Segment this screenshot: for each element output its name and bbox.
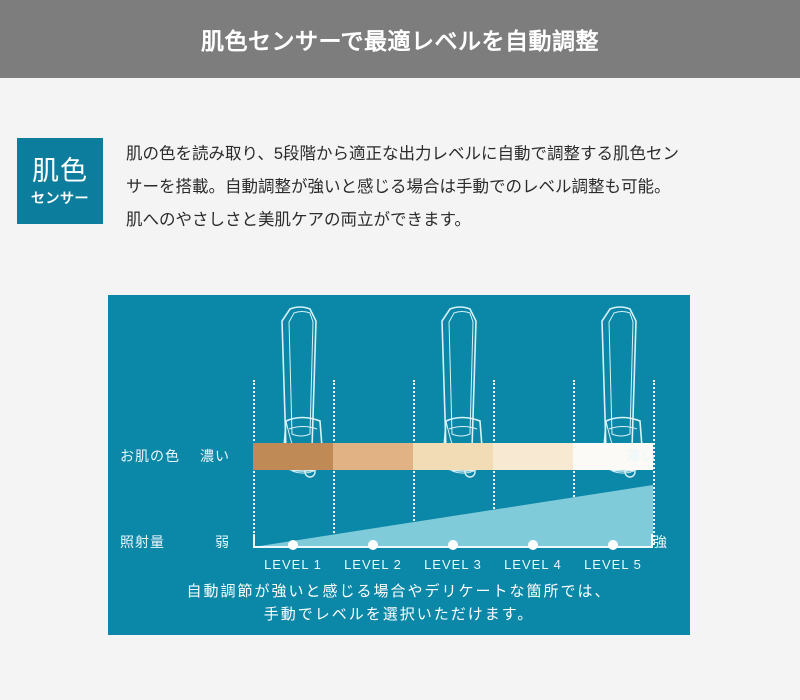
level-dot[interactable] bbox=[528, 540, 538, 550]
level-dot[interactable] bbox=[288, 540, 298, 550]
skin-sensor-badge: 肌色 センサー bbox=[17, 138, 103, 224]
diagram-panel: LEVEL 1 LEVEL 2 LEVEL 3 LEVEL 4 LEVEL 5 … bbox=[108, 295, 690, 635]
axis-label-output: 照射量 bbox=[120, 532, 165, 552]
level-label-2: LEVEL 2 bbox=[333, 557, 413, 572]
axis-value-skin-light: 薄い bbox=[626, 446, 656, 466]
axis-value-output-strong: 強 bbox=[653, 532, 668, 552]
baseline-tick-left bbox=[253, 534, 255, 548]
axis-label-skin-color: お肌の色 bbox=[120, 446, 180, 466]
skin-tone-segment bbox=[333, 443, 413, 470]
level-label-3: LEVEL 3 bbox=[413, 557, 493, 572]
axis-value-output-weak: 弱 bbox=[215, 532, 230, 552]
intro-section: 肌色 センサー 肌の色を読み取り、5段階から適正な出力レベルに自動で調整する肌色… bbox=[0, 130, 800, 250]
level-label-4: LEVEL 4 bbox=[493, 557, 573, 572]
level-label-5: LEVEL 5 bbox=[573, 557, 653, 572]
page-title: 肌色センサーで最適レベルを自動調整 bbox=[201, 22, 599, 56]
level-label-1: LEVEL 1 bbox=[253, 557, 333, 572]
caption-line-2: 手動でレベルを選択いただけます。 bbox=[108, 603, 690, 626]
output-ramp bbox=[253, 485, 653, 547]
skin-tone-segment bbox=[413, 443, 493, 470]
output-ramp-triangle bbox=[253, 485, 653, 547]
level-dot[interactable] bbox=[448, 540, 458, 550]
level-dot[interactable] bbox=[368, 540, 378, 550]
skin-tone-segment bbox=[493, 443, 573, 470]
intro-paragraph: 肌の色を読み取り、5段階から適正な出力レベルに自動で調整する肌色センサーを搭載。… bbox=[126, 138, 686, 237]
page-root: 肌色センサーで最適レベルを自動調整 肌色 センサー 肌の色を読み取り、5段階から… bbox=[0, 0, 800, 700]
caption-line-1: 自動調節が強いと感じる場合やデリケートな箇所では、 bbox=[108, 580, 690, 603]
level-dot[interactable] bbox=[608, 540, 618, 550]
diagram-caption: 自動調節が強いと感じる場合やデリケートな箇所では、 手動でレベルを選択いただけま… bbox=[108, 580, 690, 627]
skin-tone-bar bbox=[253, 443, 653, 470]
skin-tone-segment bbox=[253, 443, 333, 470]
header-bar: 肌色センサーで最適レベルを自動調整 bbox=[0, 0, 800, 78]
diagram-canvas: LEVEL 1 LEVEL 2 LEVEL 3 LEVEL 4 LEVEL 5 … bbox=[108, 295, 690, 635]
badge-main-label: 肌色 bbox=[32, 158, 88, 185]
axis-value-skin-dark: 濃い bbox=[200, 446, 230, 466]
badge-sub-label: センサー bbox=[31, 191, 89, 205]
